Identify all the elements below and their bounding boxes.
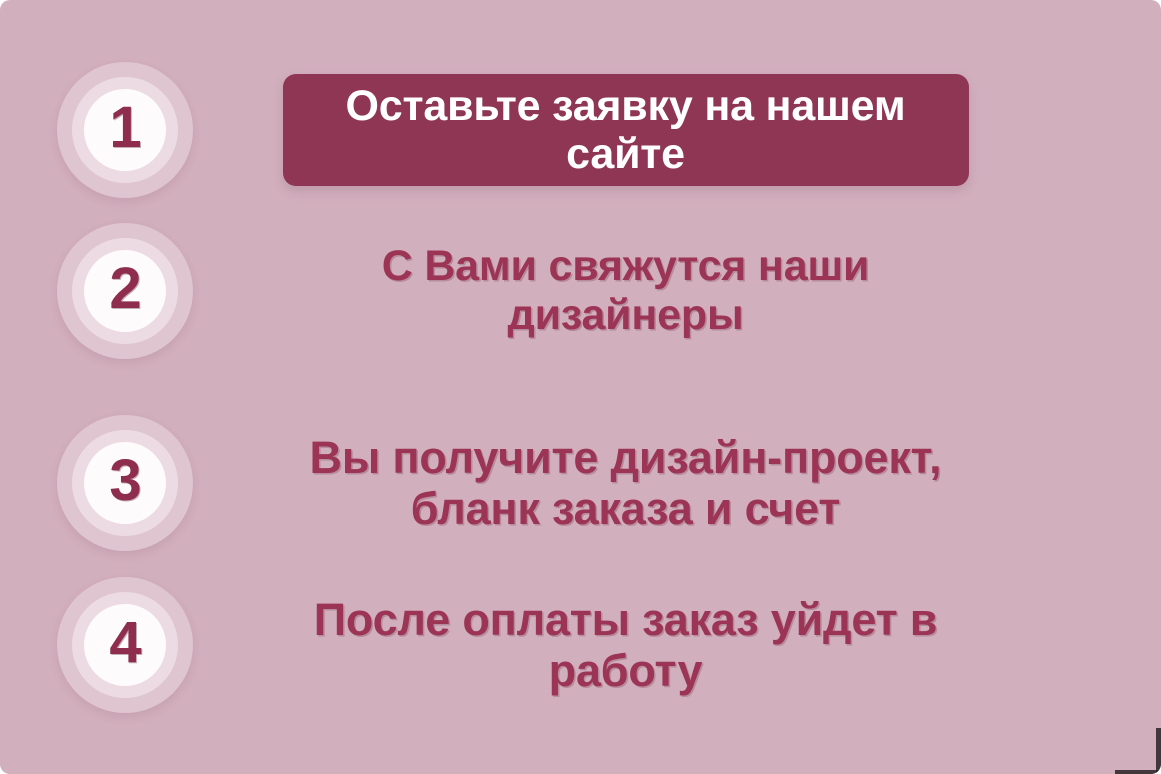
badge-ring-inner: 3 [84, 442, 166, 524]
card-edge-bottom [1115, 770, 1161, 774]
step-text-block-4: После оплаты заказ уйдет в работу [306, 594, 946, 697]
badge-ring-middle: 3 [72, 430, 178, 536]
step-text-block-3: Вы получите дизайн-проект, бланк заказа … [276, 432, 976, 535]
step-text-1: Оставьте заявку на нашем сайте [307, 82, 945, 178]
step-content-1: Оставьте заявку на нашем сайте [250, 74, 1161, 186]
steps-card: 1 Оставьте заявку на нашем сайте 2 [0, 0, 1161, 774]
step-badge-wrap-1: 1 [0, 62, 250, 198]
badge-ring-inner: 1 [84, 89, 166, 171]
badge-ring-inner: 2 [84, 250, 166, 332]
step-text-4: После оплаты заказ уйдет в работу [306, 594, 946, 697]
step-badge-3: 3 [57, 415, 193, 551]
badge-ring-middle: 2 [72, 238, 178, 344]
step-item-4: 4 После оплаты заказ уйдет в работу [0, 577, 1161, 713]
step-content-4: После оплаты заказ уйдет в работу [250, 594, 1161, 697]
step-number-2: 2 [109, 260, 140, 318]
step-item-3: 3 Вы получите дизайн-проект, бланк заказ… [0, 415, 1161, 551]
step-content-3: Вы получите дизайн-проект, бланк заказа … [250, 432, 1161, 535]
steps-list: 1 Оставьте заявку на нашем сайте 2 [0, 0, 1161, 774]
step-badge-wrap-4: 4 [0, 577, 250, 713]
badge-ring-inner: 4 [84, 604, 166, 686]
step-text-2: С Вами свяжутся наши дизайнеры [326, 242, 926, 340]
step-item-1: 1 Оставьте заявку на нашем сайте [0, 62, 1161, 198]
step-badge-wrap-3: 3 [0, 415, 250, 551]
step-text-3: Вы получите дизайн-проект, бланк заказа … [276, 432, 976, 535]
card-edge-right [1156, 728, 1161, 774]
step-number-4: 4 [109, 614, 140, 672]
step-text-block-2: С Вами свяжутся наши дизайнеры [326, 242, 926, 340]
step-badge-1: 1 [57, 62, 193, 198]
step-number-1: 1 [109, 99, 140, 157]
step-item-2: 2 С Вами свяжутся наши дизайнеры [0, 223, 1161, 359]
step-content-2: С Вами свяжутся наши дизайнеры [250, 242, 1161, 340]
step-badge-4: 4 [57, 577, 193, 713]
step-badge-2: 2 [57, 223, 193, 359]
step-badge-wrap-2: 2 [0, 223, 250, 359]
badge-ring-middle: 1 [72, 77, 178, 183]
step-number-3: 3 [109, 452, 140, 510]
badge-ring-middle: 4 [72, 592, 178, 698]
step-banner-1: Оставьте заявку на нашем сайте [283, 74, 969, 186]
